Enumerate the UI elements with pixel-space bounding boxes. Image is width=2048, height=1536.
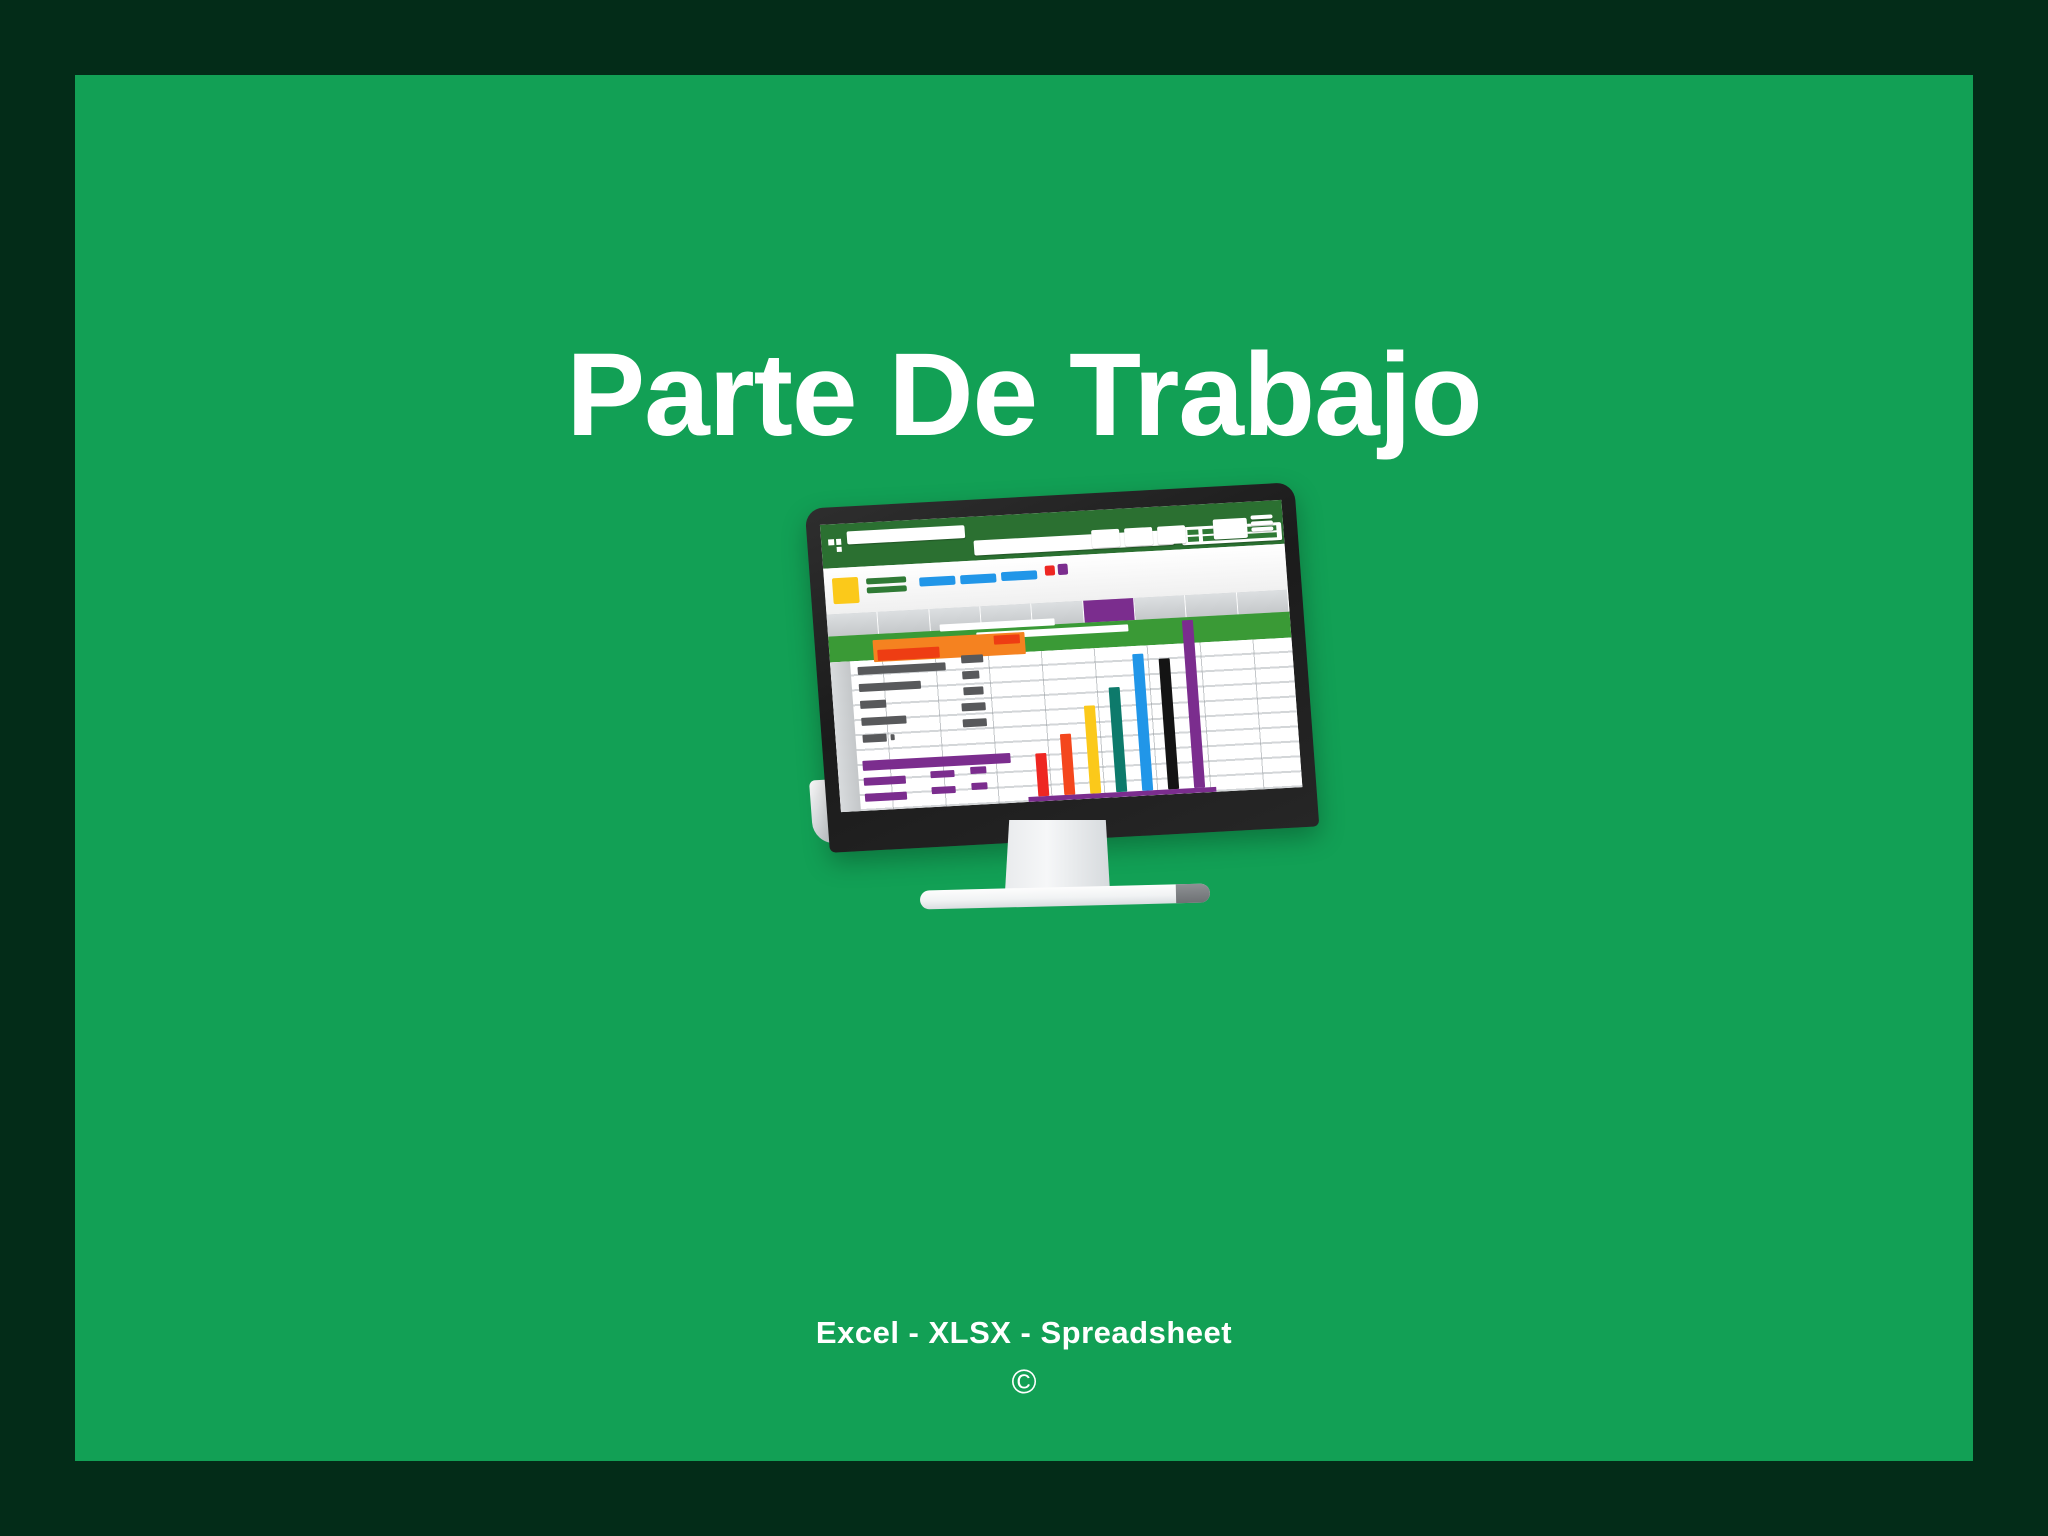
monitor-base	[920, 883, 1210, 909]
data-row-gray-6	[890, 734, 894, 740]
titlebar-chip-1	[1187, 529, 1198, 535]
titlebar-tab-3[interactable]	[1157, 525, 1186, 544]
embedded-column-chart	[1016, 614, 1217, 802]
row-header-strip	[830, 661, 861, 812]
titlebar-tab-1[interactable]	[1091, 529, 1120, 548]
titlebar-tab-2[interactable]	[1124, 527, 1153, 546]
spreadsheet-grid[interactable]	[830, 638, 1302, 813]
titlebar-chip-2	[1188, 536, 1199, 542]
copyright-icon: ©	[75, 1365, 1973, 1399]
chart-bar-7	[1182, 620, 1205, 788]
footer: Excel - XLSX - Spreadsheet ©	[75, 1315, 1973, 1399]
total-row-purple-4	[930, 770, 954, 778]
ribbon-button-blue-3[interactable]	[1001, 570, 1038, 581]
chart-bar-5	[1132, 654, 1153, 791]
total-row-purple-6	[970, 766, 986, 774]
footer-caption: Excel - XLSX - Spreadsheet	[75, 1315, 1973, 1351]
data-col-gray-3	[963, 686, 984, 695]
total-row-purple-5	[931, 786, 955, 794]
monitor-base-cap	[1176, 883, 1210, 903]
monitor-neck	[1005, 820, 1110, 892]
monitor-illustration	[735, 495, 1435, 995]
ribbon-button-red[interactable]	[1045, 565, 1056, 576]
data-row-gray-2	[859, 681, 922, 692]
titlebar-tab-4[interactable]	[1213, 518, 1248, 540]
total-row-purple-3	[865, 792, 908, 802]
column-header-b[interactable]	[878, 609, 931, 634]
chart-bar-3	[1084, 705, 1101, 793]
column-header-a[interactable]	[826, 612, 879, 637]
total-row-purple-1	[862, 753, 1011, 771]
ribbon-button-blue-1[interactable]	[919, 576, 956, 587]
chart-bar-6	[1159, 658, 1180, 789]
titlebar-filename-field	[846, 525, 965, 544]
poster-canvas: Parte De Trabajo	[0, 0, 2048, 1536]
data-row-gray-4	[861, 715, 907, 725]
chart-bar-2	[1060, 734, 1075, 795]
data-row-gray-3	[860, 700, 887, 709]
data-row-gray-5	[862, 734, 887, 743]
data-row-gray-1	[857, 662, 945, 675]
data-col-gray-4	[961, 702, 986, 711]
data-col-gray-1	[961, 654, 984, 663]
ribbon-button-blue-2[interactable]	[960, 573, 997, 584]
total-row-purple-7	[971, 782, 987, 790]
data-col-gray-5	[963, 718, 988, 727]
content-panel: Parte De Trabajo	[75, 75, 1973, 1461]
ribbon-button-yellow[interactable]	[832, 577, 860, 604]
ribbon-green-line-2	[867, 585, 907, 593]
data-col-gray-2	[962, 670, 980, 679]
ribbon-button-purple[interactable]	[1057, 564, 1068, 576]
total-row-purple-2	[864, 776, 907, 786]
column-header-i[interactable]	[1237, 590, 1290, 615]
page-title: Parte De Trabajo	[75, 334, 1973, 458]
chart-bar-1	[1035, 753, 1049, 796]
chart-bar-4	[1109, 687, 1128, 792]
column-header-h[interactable]	[1185, 592, 1238, 617]
ribbon-green-line-1	[866, 576, 906, 584]
titlebar-menu-line-1	[1250, 514, 1272, 519]
monitor-bezel	[805, 482, 1320, 853]
app-logo-icon	[828, 539, 842, 553]
monitor-screen	[820, 500, 1303, 812]
